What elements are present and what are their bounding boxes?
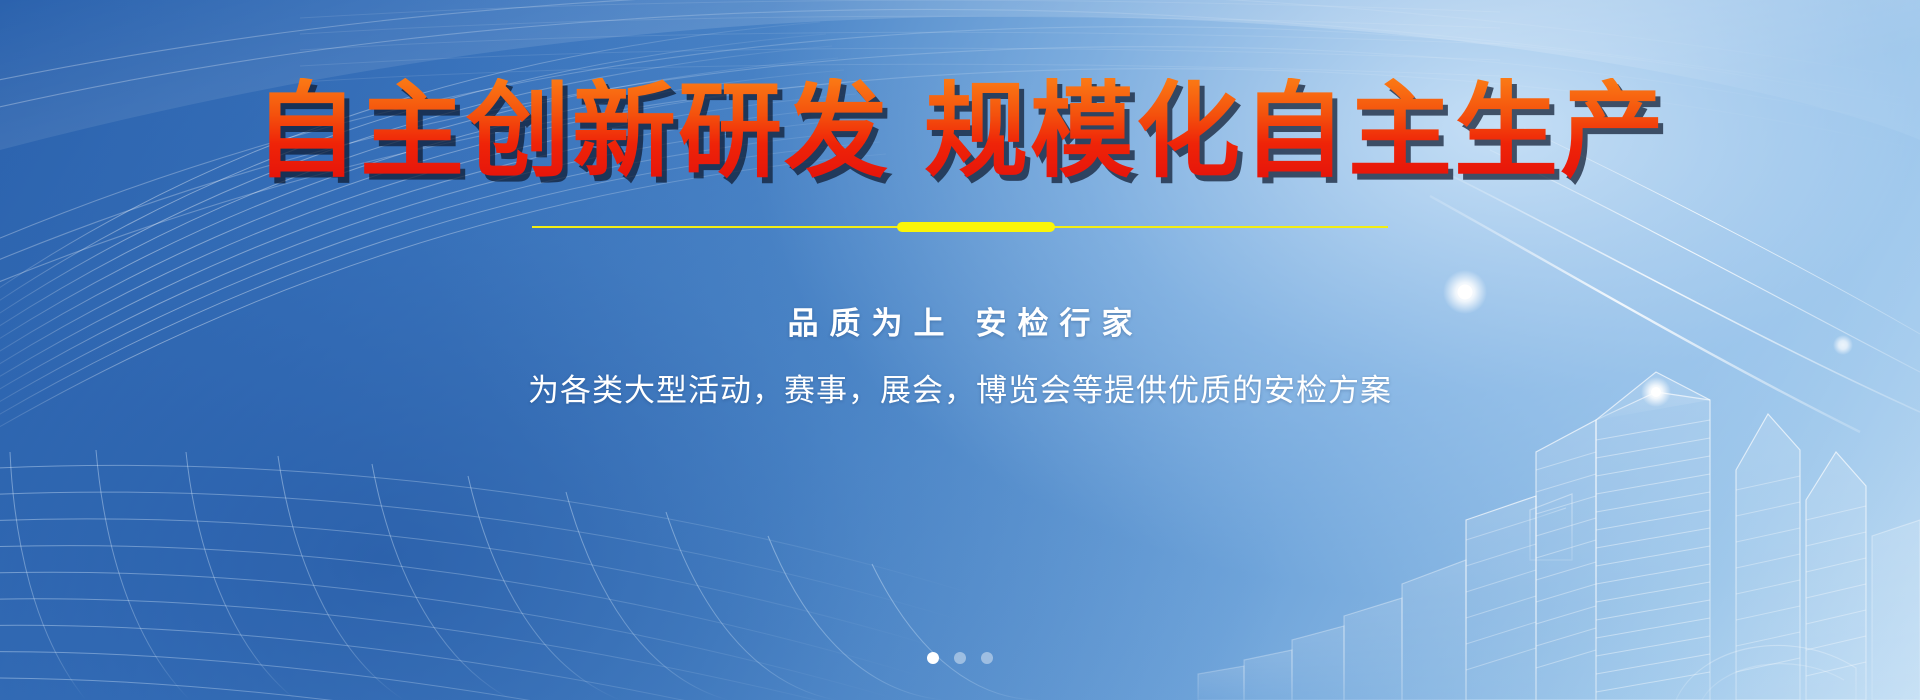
banner-subtitle-secondary: 为各类大型活动，赛事，展会，博览会等提供优质的安检方案: [528, 365, 1392, 410]
carousel-dots[interactable]: [927, 652, 993, 664]
banner-subtitle-primary: 品质为上安检行家: [777, 298, 1144, 343]
banner-content: 自主创新研发规模化自主生产 品质为上安检行家 为各类大型活动，赛事，展会，博览会…: [0, 0, 1920, 700]
subtitle-primary-left: 品质为上: [788, 306, 956, 341]
carousel-dot-3[interactable]: [981, 652, 993, 664]
hero-banner: 自主创新研发规模化自主生产 品质为上安检行家 为各类大型活动，赛事，展会，博览会…: [0, 0, 1920, 700]
carousel-dot-2[interactable]: [954, 652, 966, 664]
headline-part-1: 自主创新研发: [254, 70, 890, 192]
carousel-dot-1[interactable]: [927, 652, 939, 664]
subtitle-primary-right: 安检行家: [976, 306, 1144, 341]
yellow-divider: [532, 220, 1388, 234]
divider-accent-bar: [897, 222, 1055, 232]
headline-part-2: 规模化自主生产: [924, 70, 1666, 192]
banner-headline: 自主创新研发规模化自主生产: [254, 78, 1666, 184]
